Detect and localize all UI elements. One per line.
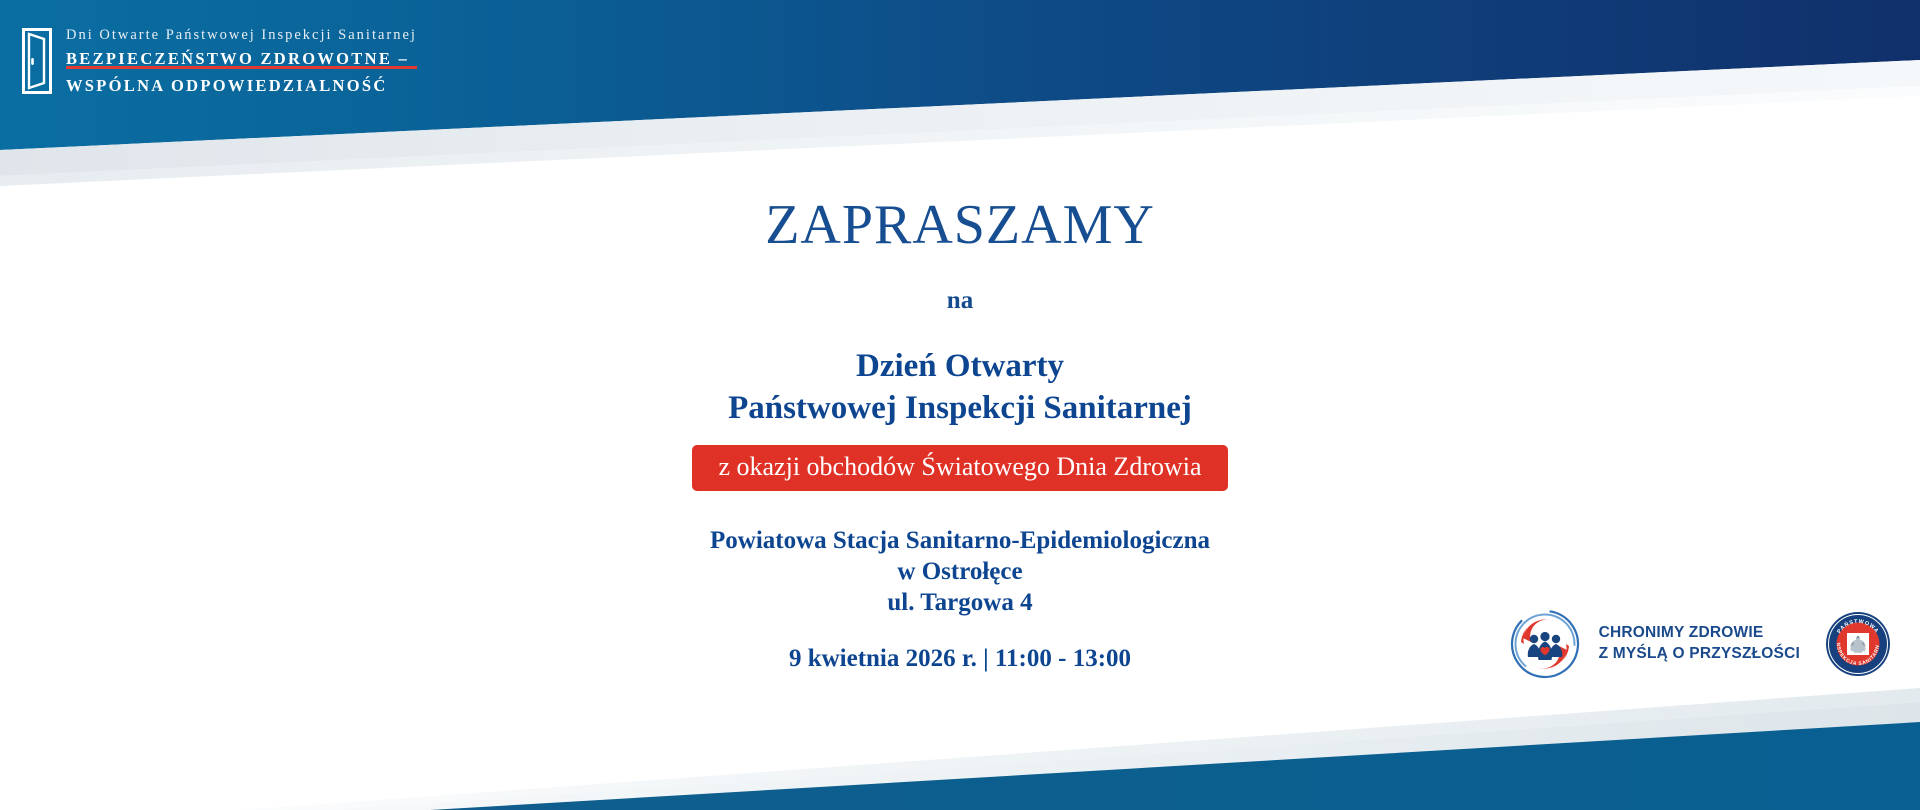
campaign-logo: Dni Otwarte Państwowej Inspekcji Sanitar… — [22, 26, 417, 96]
open-door-icon — [22, 28, 52, 94]
slogan-red-underline — [66, 66, 417, 69]
event-name: Dzień Otwarty Państwowej Inspekcji Sanit… — [0, 346, 1920, 429]
invitation-content: ZAPRASZAMY na Dzień Otwarty Państwowej I… — [0, 196, 1920, 674]
occasion-badge: z okazji obchodów Światowego Dnia Zdrowi… — [692, 445, 1227, 491]
chronimy-line-1: CHRONIMY ZDROWIE — [1599, 623, 1800, 644]
event-name-line-1: Dzień Otwarty — [0, 346, 1920, 387]
invite-title: ZAPRASZAMY — [0, 196, 1920, 255]
event-invitation-banner: Dni Otwarte Państwowej Inspekcji Sanitar… — [0, 0, 1920, 810]
invite-connector: na — [0, 287, 1920, 315]
occasion-badge-wrap: z okazji obchodów Światowego Dnia Zdrowi… — [0, 445, 1920, 491]
venue-address: Powiatowa Stacja Sanitarno-Epidemiologic… — [0, 525, 1920, 619]
chronimy-zdrowie-text: CHRONIMY ZDROWIE Z MYŚLĄ O PRZYSZŁOŚCI — [1599, 623, 1800, 665]
event-name-line-2: Państwowej Inspekcji Sanitarnej — [0, 388, 1920, 429]
footer-logo-group: CHRONIMY ZDROWIE Z MYŚLĄ O PRZYSZŁOŚCI — [1509, 608, 1892, 680]
panstwowa-inspekcja-sanitarna-seal-icon: PAŃSTWOWA INSPEKCJA SANITARNA — [1824, 610, 1892, 678]
chronimy-zdrowie-hands-figures-icon — [1509, 608, 1581, 680]
slogan-line-2: WSPÓLNA ODPOWIEDZIALNOŚĆ — [66, 75, 417, 96]
venue-line-2: w Ostrołęce — [0, 556, 1920, 587]
header-silver-band-2 — [0, 86, 1920, 186]
chronimy-line-2: Z MYŚLĄ O PRZYSZŁOŚCI — [1599, 644, 1800, 665]
campaign-logo-text: Dni Otwarte Państwowej Inspekcji Sanitar… — [66, 26, 417, 96]
venue-line-1: Powiatowa Stacja Sanitarno-Epidemiologic… — [0, 525, 1920, 556]
campaign-line: Dni Otwarte Państwowej Inspekcji Sanitar… — [66, 26, 417, 44]
slogan-line-1-wrap: BEZPIECZEŃSTWO ZDROWOTNE – — [66, 48, 417, 69]
